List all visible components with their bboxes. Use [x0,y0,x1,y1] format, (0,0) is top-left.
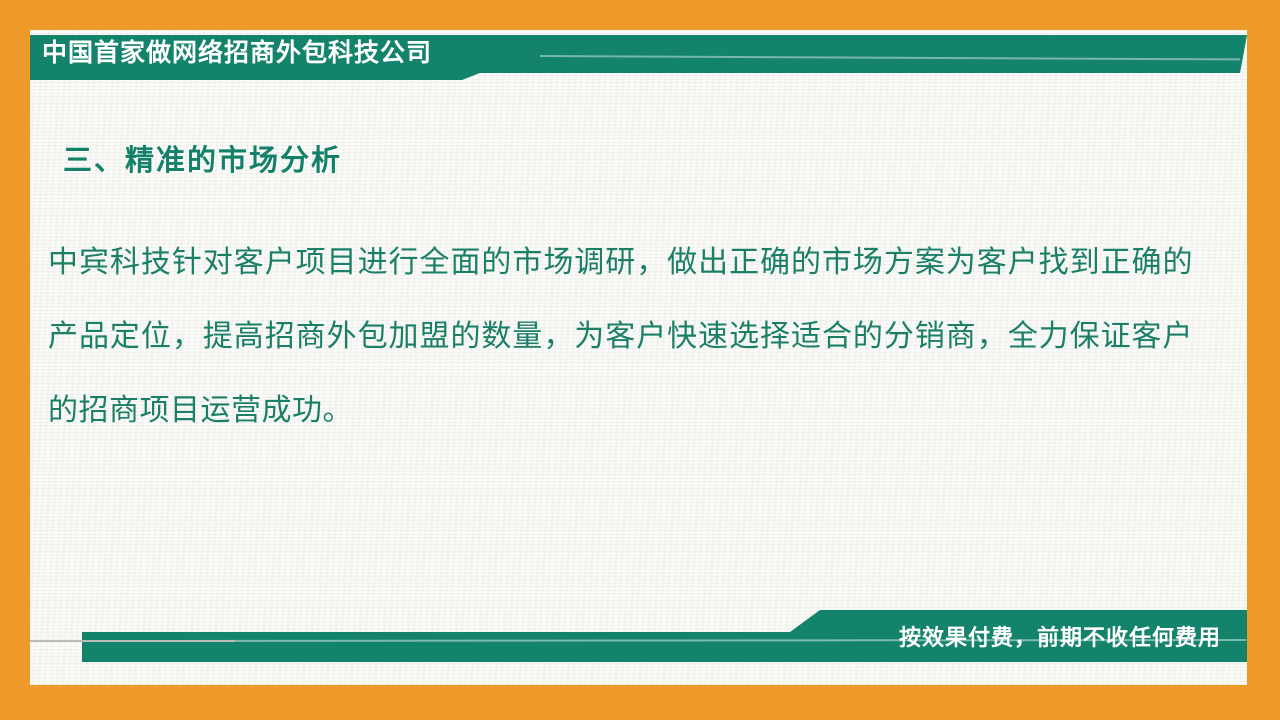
footer-slogan: 按效果付费，前期不收任何费用 [899,620,1221,652]
header-title: 中国首家做网络招商外包科技公司 [42,36,432,70]
presentation-slide: 中国首家做网络招商外包科技公司 三、精准的市场分析 中宾科技针对客户项目进行全面… [0,0,1280,720]
footer-accent-rule [30,640,235,642]
slide-content-area: 中国首家做网络招商外包科技公司 三、精准的市场分析 中宾科技针对客户项目进行全面… [30,30,1247,685]
section-heading: 三、精准的市场分析 [63,137,342,179]
body-paragraph: 中宾科技针对客户项目进行全面的市场调研，做出正确的市场方案为客户找到正确的产品定… [48,226,1193,448]
